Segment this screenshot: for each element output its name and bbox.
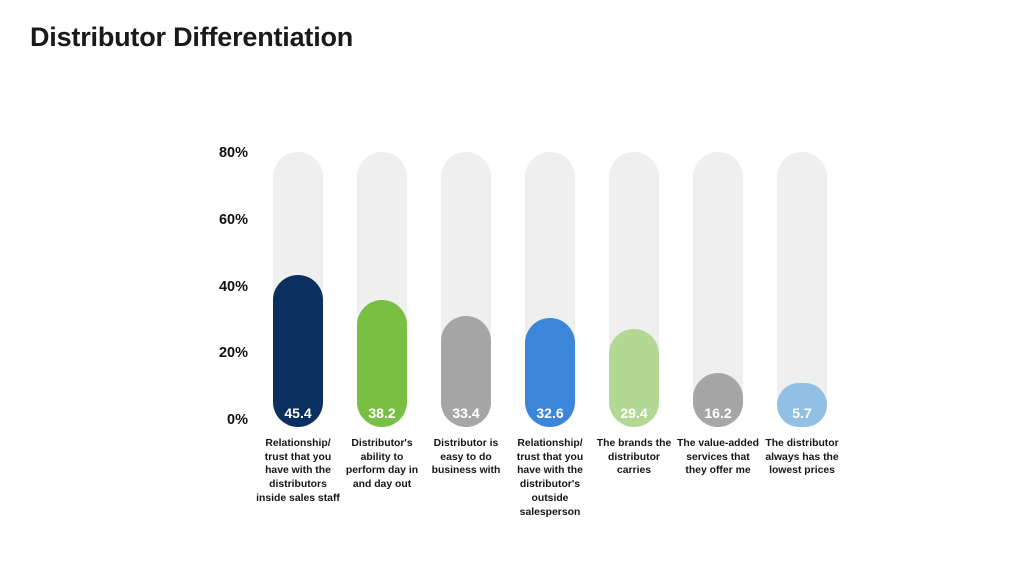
- y-axis-tick-label: 0%: [178, 412, 248, 428]
- bar-chart: 0%20%40%60%80% 45.438.233.432.629.416.25…: [0, 0, 1024, 576]
- bar-value-label: 38.2: [368, 406, 395, 427]
- bar-group: 29.4: [609, 145, 659, 427]
- category-label: Distributor is easy to do business with: [424, 437, 508, 478]
- bar-group: 32.6: [525, 145, 575, 427]
- bar-value-label: 32.6: [536, 406, 563, 427]
- y-axis-tick-label: 80%: [178, 145, 248, 161]
- bar-group: 38.2: [357, 145, 407, 427]
- bar-fill[interactable]: 32.6: [525, 318, 575, 427]
- bar-group: 5.7: [777, 145, 827, 427]
- category-label: Relationship/ trust that you have with t…: [508, 437, 592, 519]
- category-label: Distributor's ability to perform day in …: [340, 437, 424, 492]
- category-label: The brands the distributor carries: [592, 437, 676, 478]
- bar-fill[interactable]: 29.4: [609, 329, 659, 427]
- category-label: The value-added services that they offer…: [676, 437, 760, 478]
- plot-area: 45.438.233.432.629.416.25.7: [252, 145, 852, 427]
- bar-fill[interactable]: 5.7: [777, 383, 827, 427]
- y-axis-tick-label: 40%: [178, 279, 248, 295]
- y-axis-tick-label: 20%: [178, 345, 248, 361]
- category-label: Relationship/ trust that you have with t…: [256, 437, 340, 506]
- y-axis: 0%20%40%60%80%: [178, 0, 248, 576]
- bar-value-label: 16.2: [704, 406, 731, 427]
- bar-value-label: 33.4: [452, 406, 479, 427]
- bar-group: 33.4: [441, 145, 491, 427]
- category-label: The distributor always has the lowest pr…: [760, 437, 844, 478]
- bar-fill[interactable]: 45.4: [273, 275, 323, 427]
- bar-group: 16.2: [693, 145, 743, 427]
- bar-value-label: 45.4: [284, 406, 311, 427]
- bar-group: 45.4: [273, 145, 323, 427]
- bar-value-label: 5.7: [792, 406, 811, 427]
- bar-fill[interactable]: 16.2: [693, 373, 743, 427]
- bar-value-label: 29.4: [620, 406, 647, 427]
- bar-fill[interactable]: 33.4: [441, 316, 491, 427]
- bar-fill[interactable]: 38.2: [357, 300, 407, 427]
- y-axis-tick-label: 60%: [178, 212, 248, 228]
